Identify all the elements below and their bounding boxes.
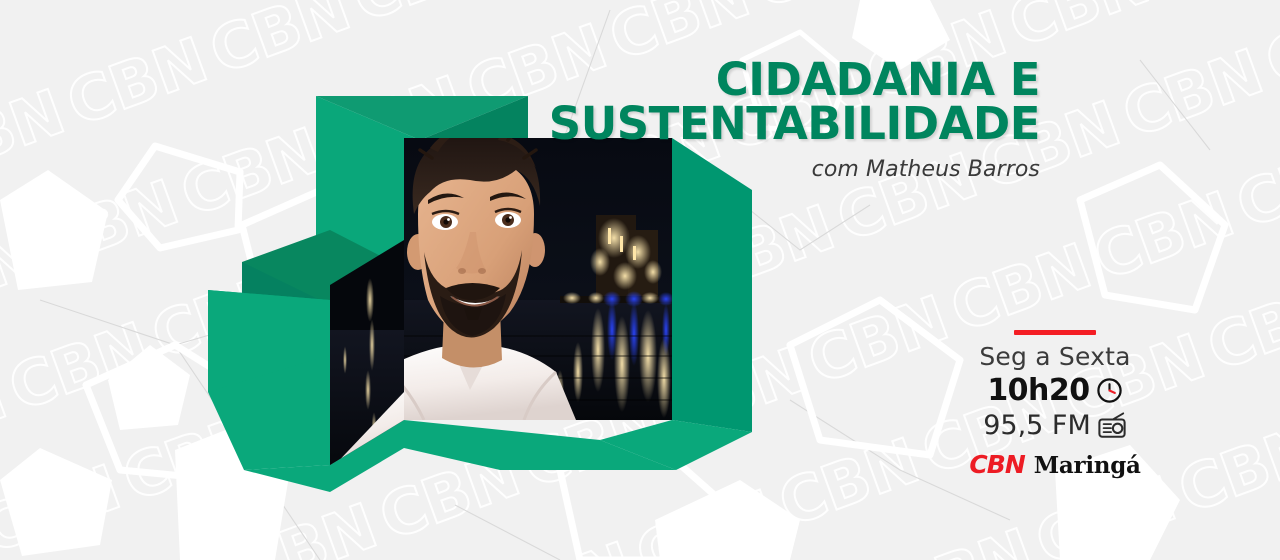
schedule-frequency: 95,5 FM bbox=[983, 410, 1091, 441]
radio-icon bbox=[1097, 412, 1127, 440]
cbn-network-name: CBN bbox=[969, 450, 1024, 479]
program-title-line-2: SUSTENTABILIDADE bbox=[520, 102, 1040, 146]
cbn-city-name: Maringá bbox=[1034, 452, 1141, 479]
red-accent-bar bbox=[1014, 330, 1096, 335]
radio-program-banner: CBN CBN CBN CBN CBN CBN CBN CBN CBN CBN … bbox=[0, 0, 1280, 560]
cbn-station-logo: CBN Maringá bbox=[965, 450, 1145, 479]
program-title-block: CIDADANIA E SUSTENTABILIDADE com Matheus… bbox=[520, 58, 1040, 182]
schedule-time: 10h20 bbox=[987, 373, 1089, 408]
schedule-frequency-row: 95,5 FM bbox=[965, 410, 1145, 441]
clock-icon bbox=[1096, 377, 1123, 404]
broadcast-schedule-block: Seg a Sexta 10h20 95,5 FM bbox=[965, 330, 1145, 479]
schedule-days: Seg a Sexta bbox=[965, 343, 1145, 371]
program-host-subtitle: com Matheus Barros bbox=[520, 157, 1040, 182]
program-title-line-1: CIDADANIA E bbox=[520, 58, 1040, 102]
schedule-time-row: 10h20 bbox=[965, 373, 1145, 408]
